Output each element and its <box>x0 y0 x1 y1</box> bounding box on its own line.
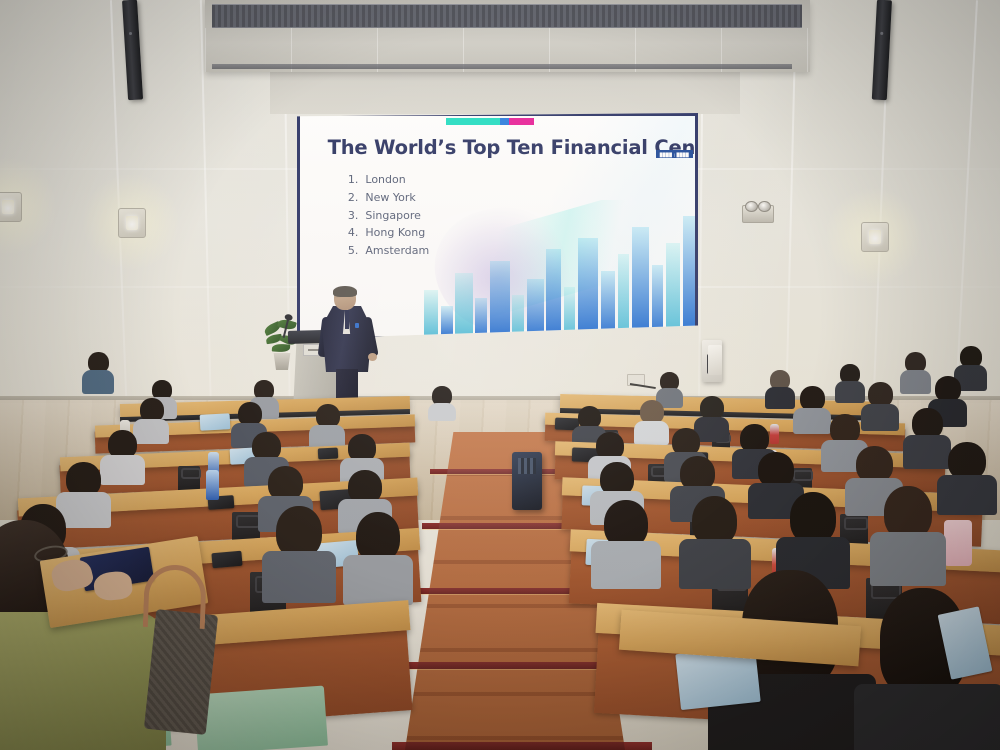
skyline-building <box>441 306 452 336</box>
slide-logo-badge: ████ | ████ <box>656 150 693 158</box>
person-torso <box>793 408 831 434</box>
list-item: 3. Singapore <box>347 207 429 225</box>
far-left-wall-sconce <box>0 192 22 222</box>
presenter-lapel-badge <box>355 323 359 328</box>
ceiling-drop <box>270 72 740 114</box>
person-torso <box>870 532 946 586</box>
slide-title: The World’s Top Ten Financial Centres <box>328 136 684 159</box>
presenter-legs <box>336 369 358 399</box>
list-item: 5. Amsterdam <box>347 242 429 260</box>
person-torso <box>262 551 336 603</box>
smartphone[interactable] <box>211 551 242 569</box>
soffit-lip <box>212 64 792 69</box>
person-torso <box>634 421 669 445</box>
skyline-building <box>666 243 680 336</box>
list-item-label: Hong Kong <box>365 224 425 242</box>
skyline-building <box>424 290 438 336</box>
skyline-building <box>475 298 486 336</box>
presenter <box>322 287 372 397</box>
emergency-lamp-icon <box>758 201 771 212</box>
list-item-number: 4. <box>347 224 358 242</box>
left-wall-sconce <box>118 208 146 238</box>
list-item-number: 3. <box>347 207 358 225</box>
skyline-building <box>512 295 523 336</box>
list-item-label: Singapore <box>365 207 421 225</box>
skyline-building <box>601 271 615 336</box>
skyline-building <box>564 287 575 336</box>
skyline-building <box>652 265 663 336</box>
list-item: 4. Hong Kong <box>347 224 429 242</box>
person-torso <box>343 555 413 605</box>
person-torso <box>82 370 114 394</box>
skyline-building <box>683 216 695 336</box>
list-item-label: New York <box>365 189 415 207</box>
skyline-building <box>527 279 544 336</box>
topbar-magenta-segment <box>509 118 534 125</box>
skyline-building <box>578 238 598 336</box>
plant-pot <box>272 353 292 370</box>
lecture-hall-photo: The World’s Top Ten Financial Centres ██… <box>0 0 1000 750</box>
person-torso <box>903 435 951 469</box>
hand-sanitizer-stand <box>708 345 722 375</box>
handbag[interactable] <box>144 609 218 735</box>
presenter-hand <box>368 353 377 361</box>
person-torso <box>591 541 661 589</box>
person-torso <box>765 387 795 409</box>
presenter-tie <box>345 310 349 329</box>
person-torso <box>937 475 997 515</box>
person-torso <box>679 539 751 589</box>
topbar-teal-segment <box>446 118 500 125</box>
step-nosing <box>392 742 652 750</box>
person-torso <box>428 403 456 421</box>
list-item-number: 1. <box>347 171 358 189</box>
handbag-strap <box>143 564 207 629</box>
slide-bullet-list: 1. London 2. New York 3. Singapore 4. Ho… <box>347 171 429 260</box>
list-item-label: London <box>365 171 405 189</box>
person-torso <box>835 381 865 403</box>
person-torso <box>100 455 145 485</box>
topbar-blue-segment <box>500 118 509 125</box>
skyline-building <box>546 249 560 336</box>
plant-leaf <box>272 343 291 352</box>
water-bottle[interactable] <box>770 424 779 444</box>
seat-cushion[interactable] <box>194 686 328 750</box>
person-torso <box>854 684 1000 750</box>
list-item: 1. London <box>347 171 429 189</box>
slide-skyline-artwork <box>419 200 696 336</box>
wall-outlet <box>627 374 645 386</box>
slide-topbar <box>446 118 534 125</box>
list-item: 2. New York <box>347 189 429 207</box>
right-wall-sconce <box>861 222 889 252</box>
person-torso <box>0 612 166 750</box>
emergency-lamp-icon <box>745 201 758 212</box>
skyline-building <box>455 273 472 336</box>
rolling-suitcase[interactable] <box>512 452 542 510</box>
laptop-screen[interactable] <box>200 413 231 431</box>
presenter-hair <box>333 286 357 297</box>
smartphone[interactable] <box>318 447 339 459</box>
emergency-light <box>742 205 774 223</box>
person-torso <box>861 404 899 431</box>
skyline-building <box>618 254 629 336</box>
skyline-building <box>490 261 510 336</box>
person-torso <box>900 370 931 394</box>
ceiling-vent-grille <box>212 4 802 28</box>
water-bottle[interactable] <box>206 470 219 500</box>
list-item-number: 5. <box>347 242 358 260</box>
list-item-number: 2. <box>347 189 358 207</box>
skyline-building <box>632 227 649 336</box>
person-torso <box>133 419 169 444</box>
pink-tumbler[interactable] <box>944 520 972 566</box>
